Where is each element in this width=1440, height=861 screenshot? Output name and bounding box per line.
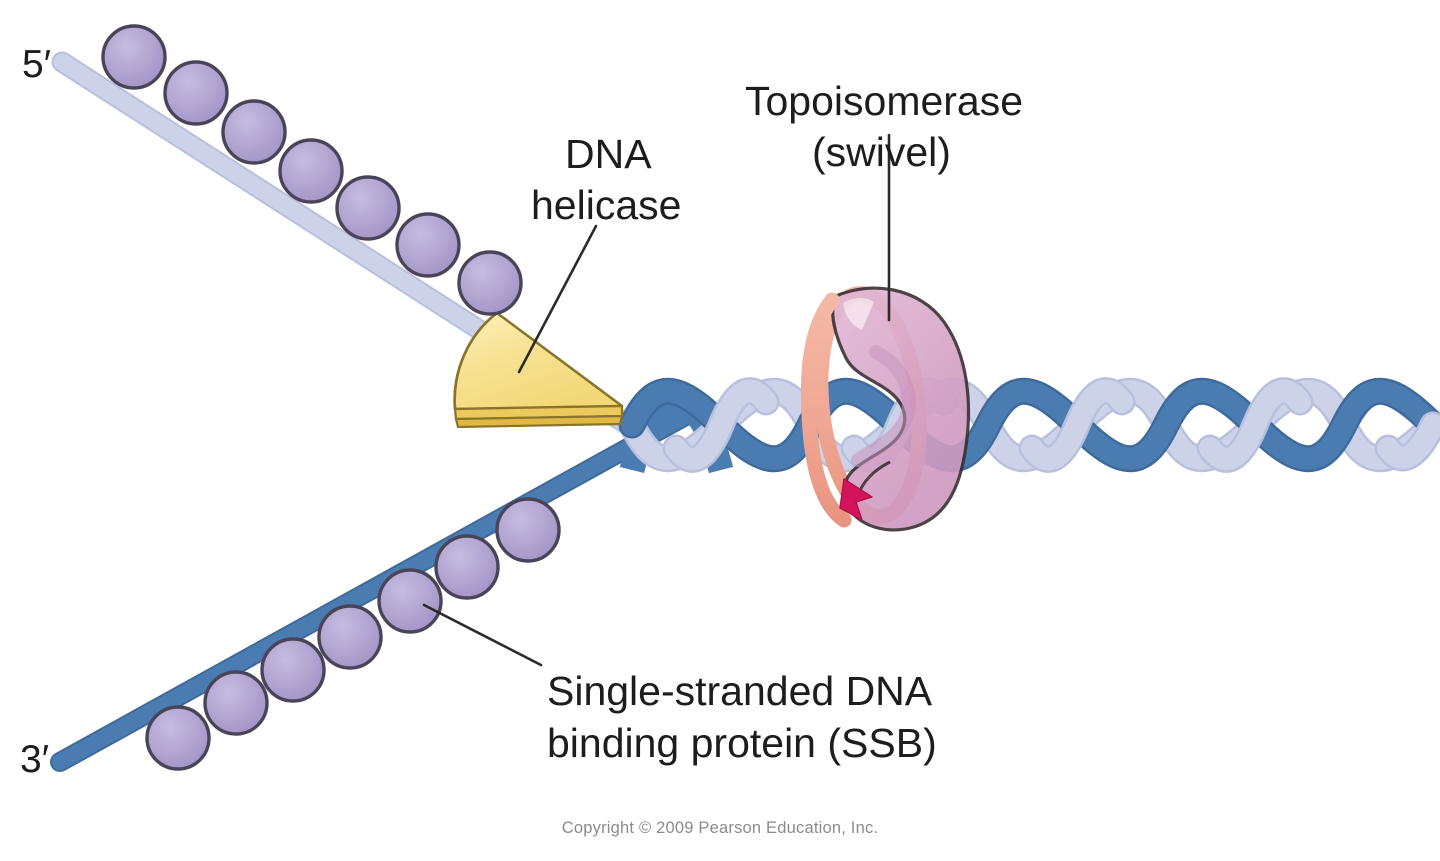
ssb-bead-icon[interactable] xyxy=(205,672,267,734)
ssb-bead-icon[interactable] xyxy=(397,214,459,276)
ssb-bead-icon[interactable] xyxy=(379,570,441,632)
ssb-bead-icon[interactable] xyxy=(459,252,521,314)
helicase-label-line1: DNA xyxy=(565,131,652,177)
five-prime-label: 5′ xyxy=(22,43,51,86)
ssb-bead-icon[interactable] xyxy=(497,499,559,561)
helicase-label-line2: helicase xyxy=(531,182,681,228)
ssb-label-line1: Single-stranded DNA xyxy=(547,668,933,714)
figure-root: 5′ 3′ DNA helicase Topoisomerase (swivel… xyxy=(0,0,1440,861)
ssb-bead-icon[interactable] xyxy=(147,707,209,769)
ssb-bead-icon[interactable] xyxy=(436,536,498,598)
topoisomerase-label-line2: (swivel) xyxy=(812,129,951,175)
ssb-bead-icon[interactable] xyxy=(103,26,165,88)
ssb-bead-icon[interactable] xyxy=(280,140,342,202)
ssb-bead-icon[interactable] xyxy=(319,606,381,668)
ssb-bead-icon[interactable] xyxy=(262,639,324,701)
ssb-bead-icon[interactable] xyxy=(165,62,227,124)
ssb-bead-icon[interactable] xyxy=(337,177,399,239)
dna-replication-fork-diagram: 5′ 3′ DNA helicase Topoisomerase (swivel… xyxy=(0,0,1440,861)
topoisomerase-label-line1: Topoisomerase xyxy=(745,78,1023,124)
ssb-bead-icon[interactable] xyxy=(223,101,285,163)
ssb-label-line2: binding protein (SSB) xyxy=(547,720,937,766)
three-prime-label: 3′ xyxy=(20,738,49,781)
helicase-base-band-lower xyxy=(456,416,622,427)
copyright-notice: Copyright © 2009 Pearson Education, Inc. xyxy=(562,819,878,837)
